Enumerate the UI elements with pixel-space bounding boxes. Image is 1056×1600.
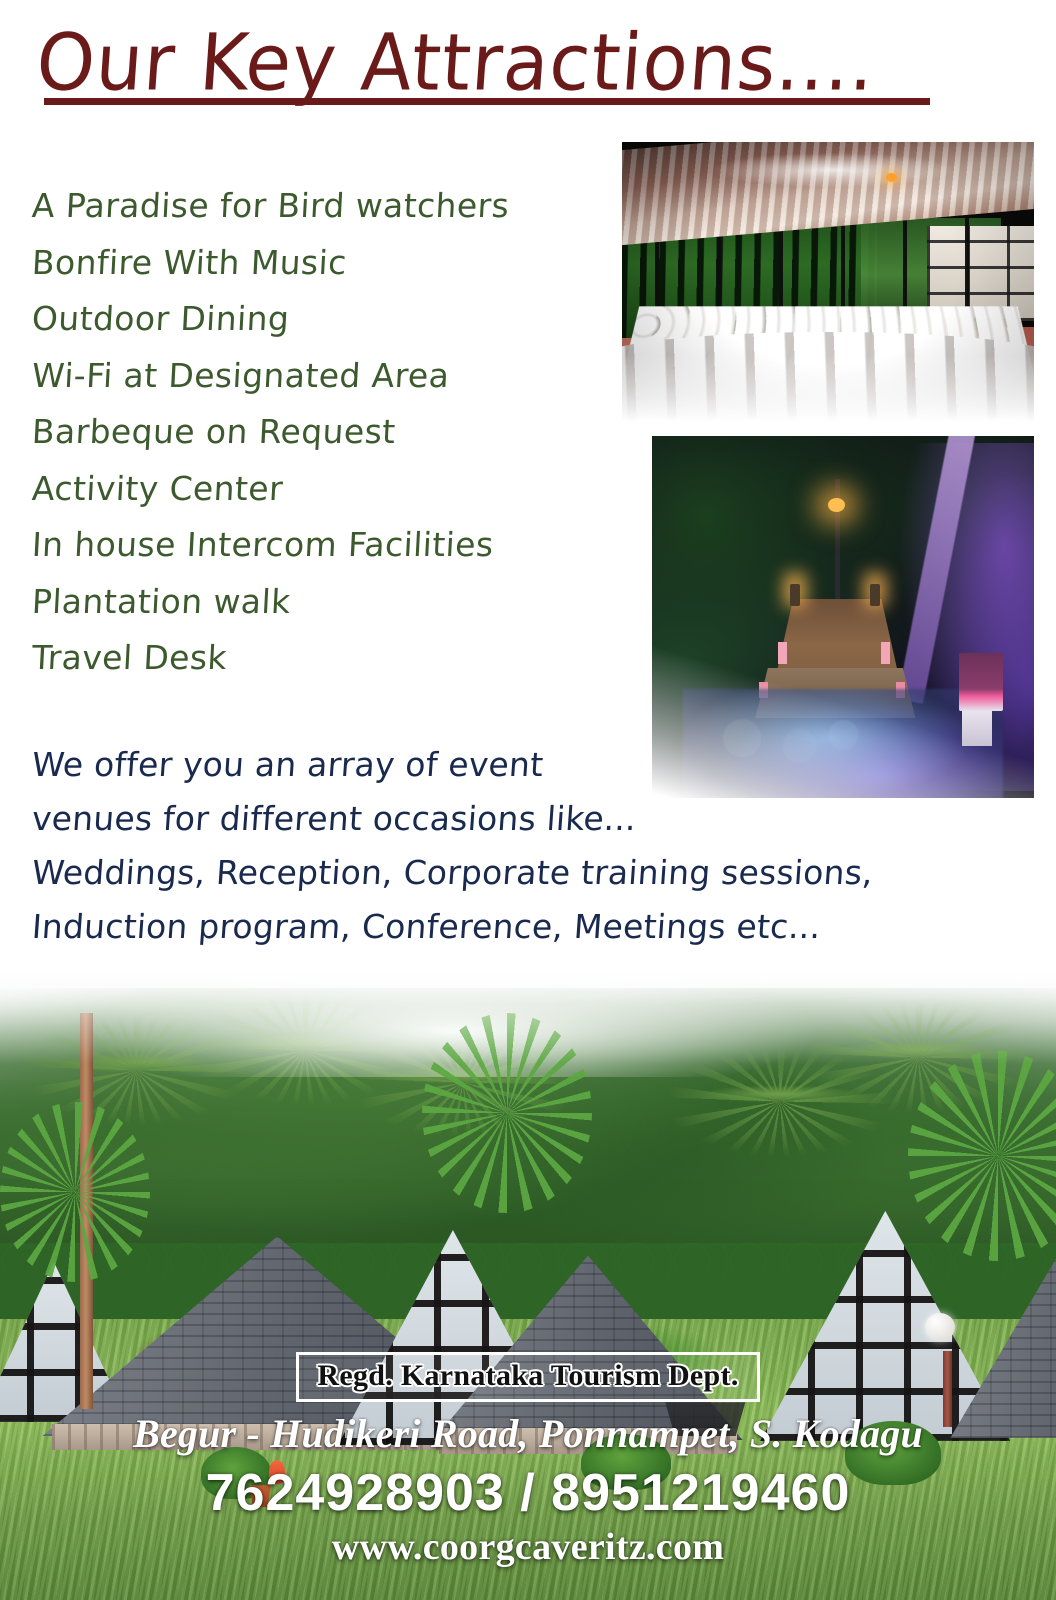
list-item: Outdoor Dining [31,291,634,348]
night-rail-left [778,642,787,664]
event-line: Weddings, Reception, Corporate training … [30,846,1024,900]
night-signboard [959,653,1003,711]
list-item: Activity Center [31,461,634,518]
night-bollard-left [790,584,800,606]
footer-address: Begur - Hudikeri Road, Ponnampet, S. Kod… [0,1410,1056,1457]
bp-frond [0,1102,150,1282]
bp-top-fade [0,962,1056,1064]
footer-phone-numbers: 7624928903 / 8951219460 [0,1463,1056,1523]
night-waterfall [683,689,1004,798]
page-header: Our Key Attractions.... [0,28,1000,102]
list-item: A Paradise for Bird watchers [31,178,634,235]
page-title: Our Key Attractions.... [0,24,1005,102]
night-bollard-right [870,584,880,606]
list-item: Barbeque on Request [31,404,634,461]
photo-night-walkway [652,436,1034,798]
list-item: Travel Desk [31,630,634,687]
title-underline-rule [44,98,930,105]
night-rail-right [881,642,890,664]
regd-badge: Regd. Karnataka Tourism Dept. [296,1352,759,1402]
bp-garden-lamp-globe [925,1313,955,1341]
list-item: Wi-Fi at Designated Area [31,348,634,405]
footer-contact-block: Regd. Karnataka Tourism Dept. Begur - Hu… [0,1352,1056,1569]
night-lamp-icon [828,498,845,512]
event-line: venues for different occasions like... [30,792,1024,846]
regd-badge-label: Regd. Karnataka Tourism Dept. [317,1359,738,1392]
photo-banquet-hall [622,142,1034,422]
hall-vignette [622,142,1034,422]
list-item: Bonfire With Music [31,235,634,292]
list-item: In house Intercom Facilities [31,517,634,574]
footer-website[interactable]: www.coorgcaveritz.com [0,1525,1056,1569]
attractions-list: A Paradise for Bird watchers Bonfire Wit… [32,178,632,687]
list-item: Plantation walk [31,574,634,631]
event-line: Induction program, Conference, Meetings … [30,900,1024,954]
